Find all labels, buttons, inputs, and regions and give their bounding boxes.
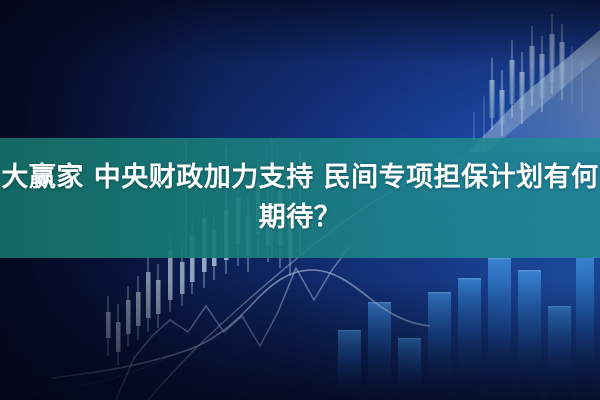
headline-line-1: 大赢家 中央财政加力支持 民间专项担保计划有何 xyxy=(1,161,598,195)
headline-line-2: 期待？ xyxy=(259,201,342,235)
banner-image: 大赢家 中央财政加力支持 民间专项担保计划有何 期待？ xyxy=(0,0,600,400)
headline-text-block: 大赢家 中央财政加力支持 民间专项担保计划有何 期待？ xyxy=(0,138,600,258)
